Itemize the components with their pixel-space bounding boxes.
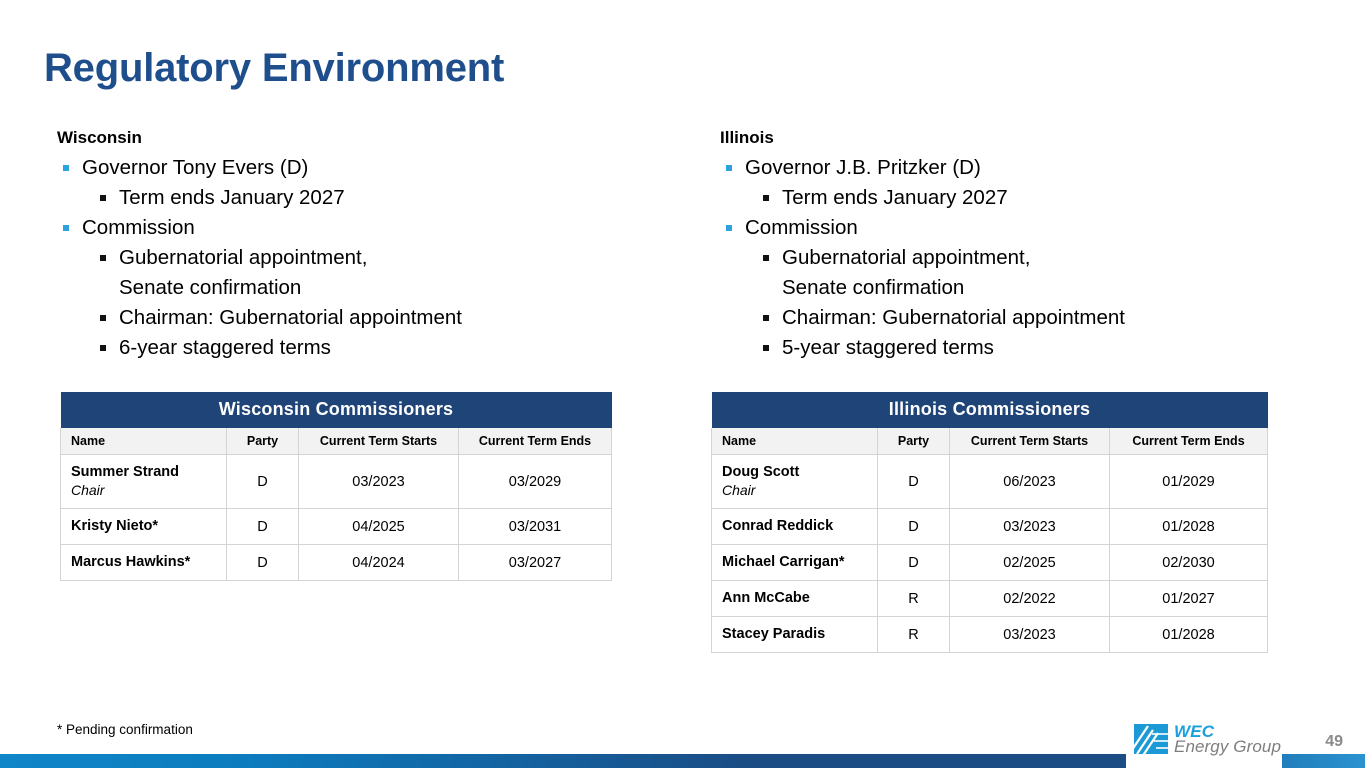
page-title: Regulatory Environment (44, 46, 504, 91)
bullet-square-icon (726, 225, 732, 231)
cell-term-ends: 01/2027 (1110, 581, 1268, 617)
logo-line-energy-group: Energy Group (1174, 739, 1281, 754)
wisconsin-bullet-1: Term ends January 2027 (94, 183, 657, 213)
wisconsin-bullet-3: Gubernatorial appointment,Senate confirm… (94, 243, 657, 303)
illinois-bullet-label: 5-year staggered terms (782, 333, 1320, 363)
table-row: Marcus Hawkins*D04/202403/2027 (61, 545, 612, 581)
table-row: Ann McCabeR02/202201/2027 (712, 581, 1268, 617)
bullet-square-icon (100, 255, 106, 261)
cell-commissioner-name: Summer StrandChair (61, 455, 227, 509)
illinois-bullet-1: Term ends January 2027 (757, 183, 1320, 213)
cell-term-ends: 03/2027 (459, 545, 612, 581)
bullet-square-icon (763, 345, 769, 351)
column-header-term-starts: Current Term Starts (299, 428, 459, 455)
cell-term-ends: 01/2029 (1110, 455, 1268, 509)
wisconsin-bullet-label: Chairman: Gubernatorial appointment (119, 303, 657, 333)
table-row: Kristy Nieto*D04/202503/2031 (61, 509, 612, 545)
cell-commissioner-name: Ann McCabe (712, 581, 878, 617)
cell-term-starts: 06/2023 (950, 455, 1110, 509)
column-header-name: Name (712, 428, 878, 455)
illinois-bullet-5: 5-year staggered terms (757, 333, 1320, 363)
illinois-bullet-0: Governor J.B. Pritzker (D) (720, 153, 1320, 183)
bullet-square-icon (63, 225, 69, 231)
cell-party: D (878, 455, 950, 509)
illinois-bullet-label: Chairman: Gubernatorial appointment (782, 303, 1320, 333)
cell-term-ends: 03/2031 (459, 509, 612, 545)
wisconsin-bullet-4: Chairman: Gubernatorial appointment (94, 303, 657, 333)
cell-party: R (878, 581, 950, 617)
illinois-bullet-2: Commission (720, 213, 1320, 243)
wisconsin-bullet-2: Commission (57, 213, 657, 243)
bullet-square-icon (100, 195, 106, 201)
cell-commissioner-name: Stacey Paradis (712, 617, 878, 653)
cell-party: D (227, 545, 299, 581)
bullet-square-icon (763, 315, 769, 321)
bullet-square-icon (763, 195, 769, 201)
cell-term-ends: 01/2028 (1110, 509, 1268, 545)
cell-commissioner-role: Chair (722, 481, 875, 499)
cell-term-ends: 01/2028 (1110, 617, 1268, 653)
column-header-term-ends: Current Term Ends (459, 428, 612, 455)
table-row: Conrad ReddickD03/202301/2028 (712, 509, 1268, 545)
column-header-term-starts: Current Term Starts (950, 428, 1110, 455)
wisconsin-bullet-0: Governor Tony Evers (D) (57, 153, 657, 183)
wec-logo-mark-icon (1134, 724, 1168, 754)
illinois-heading: Illinois (720, 128, 1320, 148)
wisconsin-table-title: Wisconsin Commissioners (61, 392, 612, 428)
illinois-section: Illinois Governor J.B. Pritzker (D)Term … (720, 128, 1320, 363)
cell-term-starts: 03/2023 (950, 509, 1110, 545)
illinois-bullet-4: Chairman: Gubernatorial appointment (757, 303, 1320, 333)
table-row: Doug ScottChairD06/202301/2029 (712, 455, 1268, 509)
illinois-bullet-label: Governor J.B. Pritzker (D) (745, 153, 1320, 183)
bullet-square-icon (763, 255, 769, 261)
illinois-bullet-list: Governor J.B. Pritzker (D)Term ends Janu… (720, 153, 1320, 363)
cell-party: D (227, 455, 299, 509)
cell-party: D (878, 545, 950, 581)
cell-term-starts: 04/2025 (299, 509, 459, 545)
bullet-square-icon (726, 165, 732, 171)
illinois-bullet-label: Term ends January 2027 (782, 183, 1320, 213)
illinois-bullet-label: Commission (745, 213, 1320, 243)
cell-term-starts: 04/2024 (299, 545, 459, 581)
wisconsin-bullet-label: Term ends January 2027 (119, 183, 657, 213)
wec-energy-group-logo: WEC Energy Group (1126, 710, 1282, 768)
table-title-row: Wisconsin Commissioners (61, 392, 612, 428)
bullet-square-icon (100, 315, 106, 321)
wisconsin-section: Wisconsin Governor Tony Evers (D)Term en… (57, 128, 657, 363)
wisconsin-bullet-label: Gubernatorial appointment,Senate confirm… (119, 243, 657, 303)
table-row: Summer StrandChairD03/202303/2029 (61, 455, 612, 509)
wisconsin-bullet-label: 6-year staggered terms (119, 333, 657, 363)
cell-commissioner-name: Doug ScottChair (712, 455, 878, 509)
cell-commissioner-name: Kristy Nieto* (61, 509, 227, 545)
column-header-name: Name (61, 428, 227, 455)
column-header-party: Party (227, 428, 299, 455)
cell-commissioner-name: Marcus Hawkins* (61, 545, 227, 581)
illinois-bullet-label: Gubernatorial appointment,Senate confirm… (782, 243, 1320, 303)
cell-term-ends: 02/2030 (1110, 545, 1268, 581)
cell-term-starts: 02/2022 (950, 581, 1110, 617)
wisconsin-bullet-5: 6-year staggered terms (94, 333, 657, 363)
cell-commissioner-name: Michael Carrigan* (712, 545, 878, 581)
logo-wordmark: WEC Energy Group (1174, 724, 1281, 754)
cell-commissioner-name: Conrad Reddick (712, 509, 878, 545)
bullet-square-icon (63, 165, 69, 171)
footnote: * Pending confirmation (57, 722, 193, 737)
column-header-party: Party (878, 428, 950, 455)
cell-commissioner-role: Chair (71, 481, 224, 499)
cell-term-starts: 03/2023 (950, 617, 1110, 653)
cell-term-starts: 02/2025 (950, 545, 1110, 581)
cell-term-starts: 03/2023 (299, 455, 459, 509)
wisconsin-column-headers: Name Party Current Term Starts Current T… (61, 428, 612, 455)
table-title-row: Illinois Commissioners (712, 392, 1268, 428)
bullet-square-icon (100, 345, 106, 351)
illinois-column-headers: Name Party Current Term Starts Current T… (712, 428, 1268, 455)
table-row: Stacey ParadisR03/202301/2028 (712, 617, 1268, 653)
illinois-commissioners-table: Illinois Commissioners Name Party Curren… (711, 392, 1268, 653)
cell-party: D (878, 509, 950, 545)
cell-term-ends: 03/2029 (459, 455, 612, 509)
wisconsin-heading: Wisconsin (57, 128, 657, 148)
cell-party: R (878, 617, 950, 653)
column-header-term-ends: Current Term Ends (1110, 428, 1268, 455)
wisconsin-bullet-label: Governor Tony Evers (D) (82, 153, 657, 183)
wisconsin-bullet-label: Commission (82, 213, 657, 243)
cell-party: D (227, 509, 299, 545)
wisconsin-bullet-list: Governor Tony Evers (D)Term ends January… (57, 153, 657, 363)
illinois-table-title: Illinois Commissioners (712, 392, 1268, 428)
illinois-bullet-3: Gubernatorial appointment,Senate confirm… (757, 243, 1320, 303)
page-number: 49 (1325, 733, 1343, 751)
table-row: Michael Carrigan*D02/202502/2030 (712, 545, 1268, 581)
wisconsin-commissioners-table: Wisconsin Commissioners Name Party Curre… (60, 392, 612, 581)
